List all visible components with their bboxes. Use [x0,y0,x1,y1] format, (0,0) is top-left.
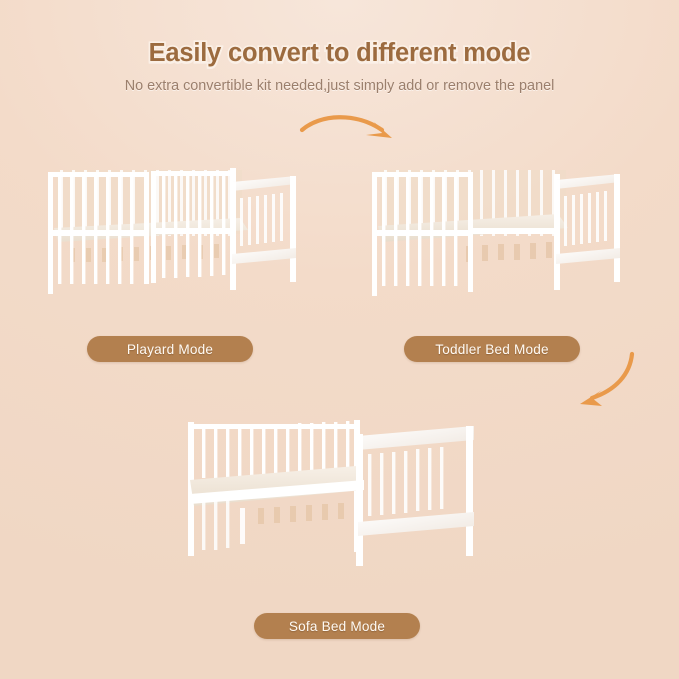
changing-table-shelf [556,248,620,264]
toddler-bed-mode-illustration [358,158,626,303]
curved-arrow-icon [570,350,650,412]
badge-sofa-bed-mode: Sofa Bed Mode [254,613,420,639]
page-subtitle: No extra convertible kit needed,just sim… [0,77,679,95]
playard-mode-illustration [34,158,302,303]
badge-playard-mode: Playard Mode [87,336,253,362]
product-infographic-page: Easily convert to different mode No extr… [0,0,679,679]
sofa-bed-mode-illustration [168,404,488,584]
crib-legs [48,270,236,294]
crib-open-side-rail [468,228,560,234]
crib-legs [372,276,473,296]
sofa-support-slats [258,503,344,524]
crib-support-slats [466,242,552,262]
badge-toddler-bed-mode: Toddler Bed Mode [404,336,580,362]
header: Easily convert to different mode No extr… [0,38,679,95]
curved-arrow-icon [296,108,400,152]
page-title: Easily convert to different mode [0,38,679,68]
sofa-lower-slats [202,500,229,550]
changing-table-shelf [232,248,296,264]
changing-table-shelf [358,512,474,536]
changing-table [356,426,474,566]
